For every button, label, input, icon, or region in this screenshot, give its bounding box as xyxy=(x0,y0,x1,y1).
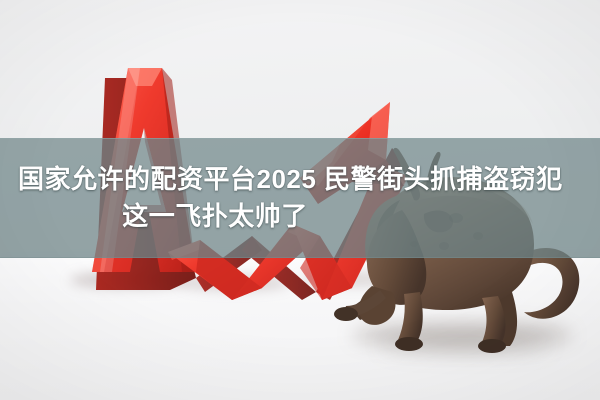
bull-front-hoof xyxy=(395,337,423,351)
screenshot-canvas: 国家允许的配资平台2025 民警街头抓捕盗窃犯 这一飞扑太帅了 xyxy=(0,0,600,400)
caption-line-2: 这一飞扑太帅了 xyxy=(18,198,582,235)
bull-knee-hoof xyxy=(334,307,358,321)
bull-hind-hoof xyxy=(478,339,506,353)
caption-text-block: 国家允许的配资平台2025 民警街头抓捕盗窃犯 这一飞扑太帅了 xyxy=(0,138,600,258)
caption-line-1: 国家允许的配资平台2025 民警街头抓捕盗窃犯 xyxy=(18,161,582,198)
